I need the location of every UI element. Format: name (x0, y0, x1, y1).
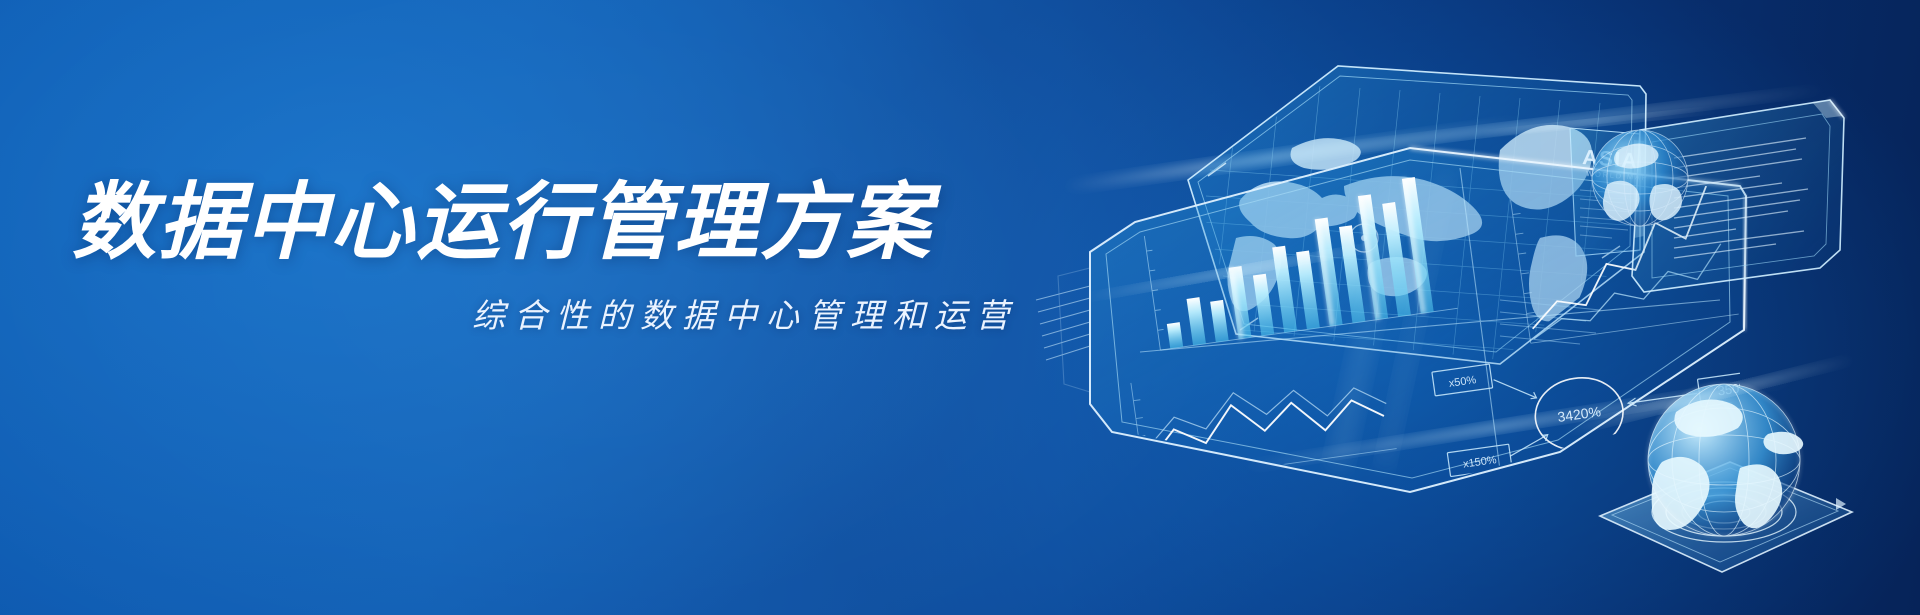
map-panel-subtitle: WORLD MAP (1586, 169, 1649, 182)
kpi-badge-1: x50% (1448, 374, 1477, 390)
bar-chart (1141, 170, 1458, 350)
bar-chart-bars (1151, 177, 1433, 349)
bar-chart-axis (1141, 170, 1458, 350)
platform-marker (1836, 498, 1846, 510)
light-beams (1062, 86, 1829, 471)
map-info-plate: ASIA WORLD MAP (1570, 128, 1649, 256)
map-panel-ticks (1500, 300, 1600, 344)
page-subtitle: 综合性的数据中心管理和运营 (72, 289, 1052, 337)
world-map-panel: ASIA WORLD MAP (1186, 66, 1649, 370)
page-title: 数据中心运行管理方案 (72, 178, 1052, 267)
line-chart-right (1511, 170, 1739, 343)
kpi-badge-2: x150% (1462, 454, 1497, 471)
kpi-badge-center: 3420% (1556, 403, 1601, 425)
kpi-flow-diagram: 3420% (1432, 326, 1782, 521)
hero-banner: ASIA WORLD MAP (0, 0, 1920, 615)
text-info-panel (1632, 100, 1844, 292)
dashboard-panel: 3420% (1036, 148, 1782, 521)
kpi-badge-3: 350% (1717, 379, 1752, 399)
line-chart-bottom (1131, 348, 1397, 484)
foreground-glints (1082, 107, 1856, 434)
kpi-badge-4: 25% (1577, 478, 1605, 497)
holographic-disc-platform (1600, 462, 1852, 572)
hero-artwork: ASIA WORLD MAP (940, 0, 1920, 615)
hero-text-block: 数据中心运行管理方案 综合性的数据中心管理和运营 (72, 178, 1052, 337)
wire-globe-small (1592, 130, 1688, 226)
text-panel-corner-clip (1812, 100, 1842, 118)
text-panel-lines (1674, 138, 1808, 258)
wire-globe-large (1648, 384, 1803, 536)
map-panel-title: ASIA (1582, 146, 1639, 173)
